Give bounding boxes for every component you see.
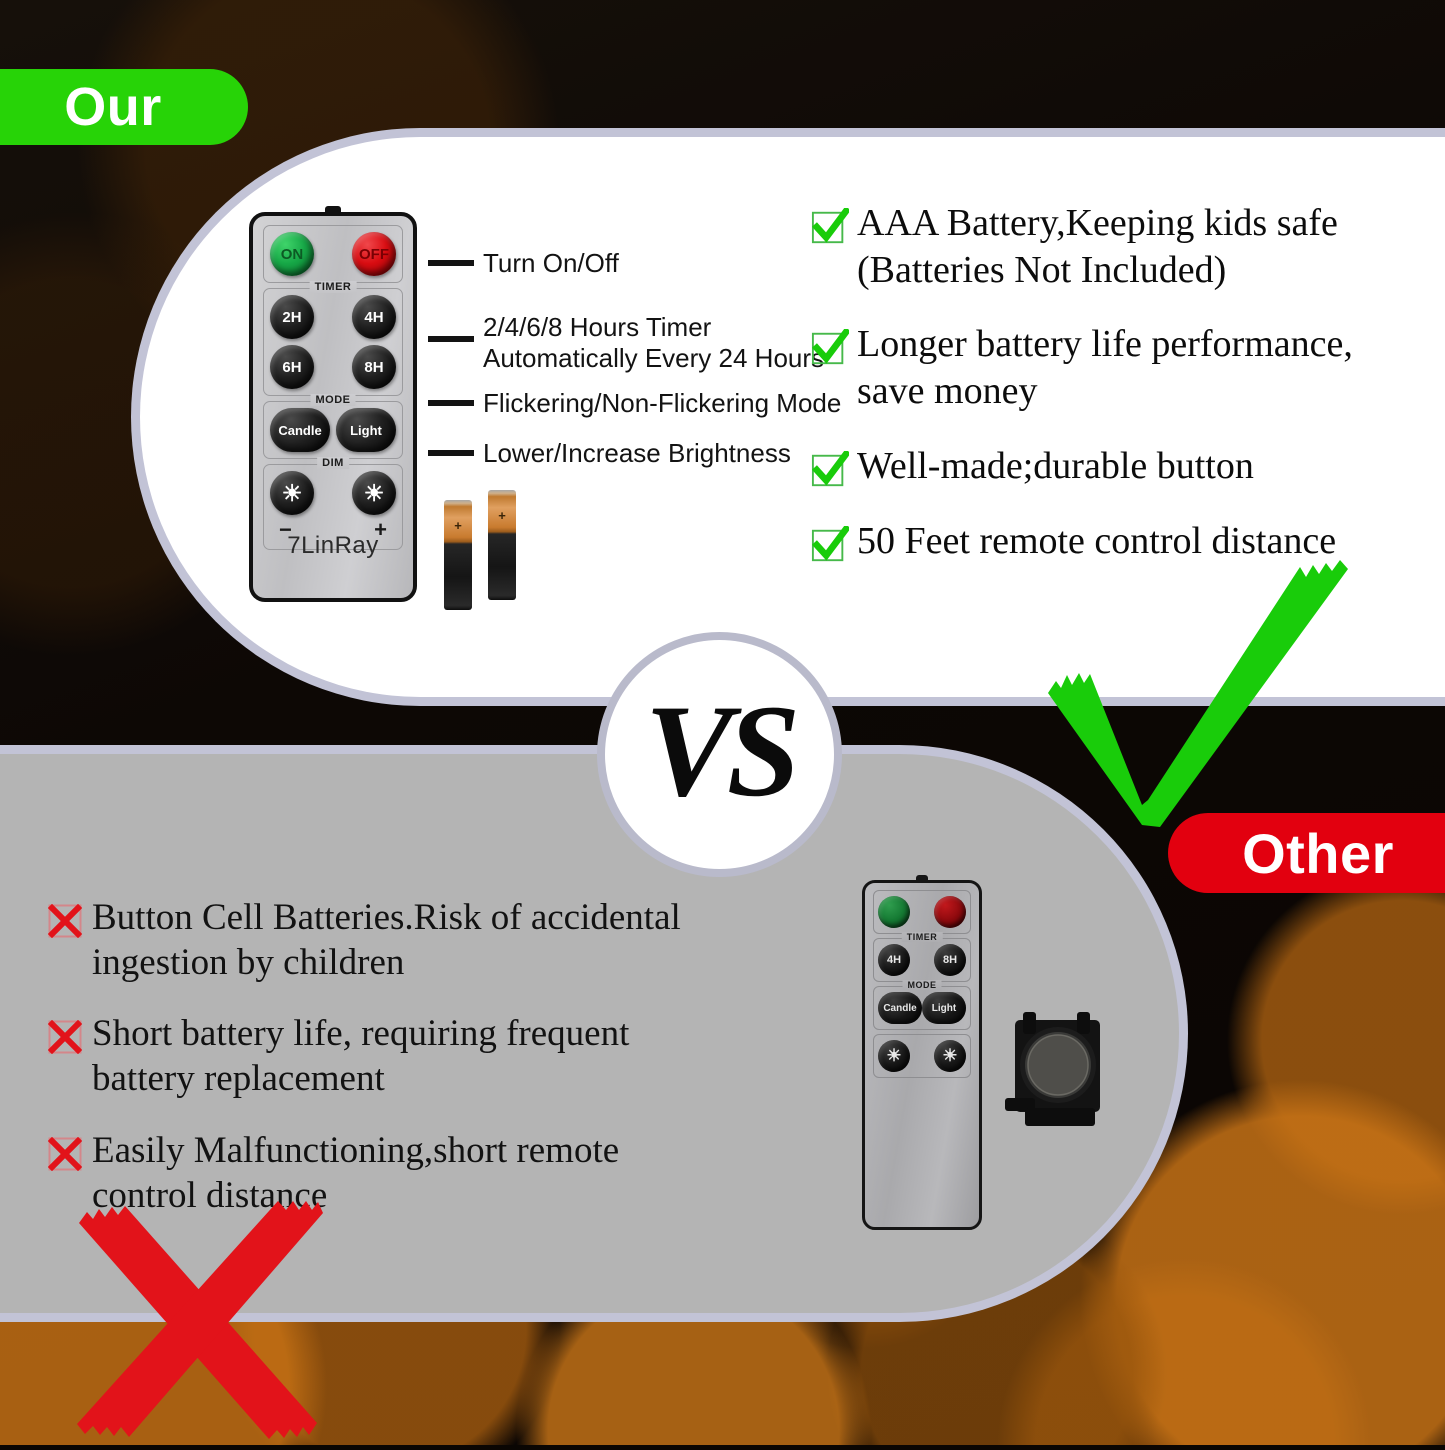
aaa-battery-2 <box>488 490 516 600</box>
timer-8h-button[interactable]: 8H <box>352 345 396 389</box>
remote-ir-nub <box>325 206 341 213</box>
other-timer-8h-button[interactable]: 8H <box>934 944 966 976</box>
callout-leader-line <box>428 336 474 342</box>
feature-text: Longer battery life performance, save mo… <box>857 321 1353 414</box>
dim-decrease-button[interactable]: ☀ <box>270 471 314 515</box>
aaa-battery-1 <box>444 500 472 610</box>
drawback-item: Short battery life, requiring frequent b… <box>48 1011 768 1101</box>
check-box-icon <box>811 329 849 367</box>
remote-brand-label: 7LinRay <box>253 532 413 560</box>
our-remote-control: ON OFF TIMER 2H 4H 6H 8H MODE Candle Lig… <box>249 212 417 602</box>
x-box-icon <box>48 1020 82 1054</box>
x-box-icon <box>48 904 82 938</box>
feature-text: Well-made;durable button <box>857 443 1254 490</box>
on-button[interactable]: ON <box>270 232 314 276</box>
other-mode-button-group: MODE Candle Light <box>873 986 971 1030</box>
timer-6h-button[interactable]: 6H <box>270 345 314 389</box>
check-box-icon <box>811 208 849 246</box>
callout-timer: 2/4/6/8 Hours Timer Automatically Every … <box>428 312 824 373</box>
callout-leader-line <box>428 400 474 406</box>
callout-leader-line <box>428 450 474 456</box>
callout-power: Turn On/Off <box>428 248 619 279</box>
other-off-button[interactable] <box>934 896 966 928</box>
vs-badge: VS <box>597 632 842 877</box>
timer-button-group: TIMER 2H 4H 6H 8H <box>263 288 403 396</box>
callout-text: Turn On/Off <box>483 248 619 279</box>
dim-increase-button[interactable]: ☀ <box>352 471 396 515</box>
button-cell-battery <box>1005 1012 1110 1130</box>
dim-group-label: DIM <box>317 457 349 469</box>
mode-button-group: MODE Candle Light <box>263 401 403 459</box>
big-green-check-icon <box>1030 555 1360 845</box>
other-timer-button-group: TIMER 4H 8H <box>873 938 971 982</box>
callout-text: Lower/Increase Brightness <box>483 438 791 469</box>
other-mode-candle-button[interactable]: Candle <box>878 992 922 1024</box>
big-red-x-icon <box>65 1185 330 1450</box>
power-button-group: ON OFF <box>263 225 403 283</box>
drawback-text: Short battery life, requiring frequent b… <box>92 1011 629 1101</box>
other-dim-decrease-button[interactable]: ☀ <box>878 1040 910 1072</box>
other-dim-button-group: ☀ ☀ <box>873 1034 971 1078</box>
timer-2h-button[interactable]: 2H <box>270 295 314 339</box>
drawback-text: Button Cell Batteries.Risk of accidental… <box>92 895 681 985</box>
vs-label: VS <box>645 685 794 817</box>
feature-list: AAA Battery,Keeping kids safe (Batteries… <box>811 200 1431 592</box>
other-dim-increase-button[interactable]: ☀ <box>934 1040 966 1072</box>
our-badge: Our <box>0 69 248 145</box>
callout-dim: Lower/Increase Brightness <box>428 438 791 469</box>
other-on-button[interactable] <box>878 896 910 928</box>
other-mode-group-label: MODE <box>903 980 942 990</box>
callout-leader-line <box>428 260 474 266</box>
aaa-batteries <box>444 500 522 610</box>
check-box-icon <box>811 451 849 489</box>
other-mode-light-button[interactable]: Light <box>922 992 966 1024</box>
feature-item: AAA Battery,Keeping kids safe (Batteries… <box>811 200 1431 293</box>
other-timer-4h-button[interactable]: 4H <box>878 944 910 976</box>
feature-item: Well-made;durable button <box>811 443 1431 490</box>
drawback-item: Button Cell Batteries.Risk of accidental… <box>48 895 768 985</box>
x-box-icon <box>48 1137 82 1171</box>
callout-text: Flickering/Non-Flickering Mode <box>483 388 841 419</box>
check-box-icon <box>811 526 849 564</box>
callout-text: 2/4/6/8 Hours Timer Automatically Every … <box>483 312 824 373</box>
mode-light-button[interactable]: Light <box>336 408 396 452</box>
remote-ir-nub <box>916 875 928 881</box>
mode-group-label: MODE <box>311 394 356 406</box>
callout-mode: Flickering/Non-Flickering Mode <box>428 388 841 419</box>
other-power-button-group <box>873 890 971 934</box>
feature-text: AAA Battery,Keeping kids safe (Batteries… <box>857 200 1338 293</box>
off-button[interactable]: OFF <box>352 232 396 276</box>
mode-candle-button[interactable]: Candle <box>270 408 330 452</box>
other-timer-group-label: TIMER <box>902 932 943 942</box>
timer-group-label: TIMER <box>310 281 357 293</box>
other-remote-control: TIMER 4H 8H MODE Candle Light ☀ ☀ <box>862 880 982 1230</box>
timer-4h-button[interactable]: 4H <box>352 295 396 339</box>
feature-item: Longer battery life performance, save mo… <box>811 321 1431 414</box>
